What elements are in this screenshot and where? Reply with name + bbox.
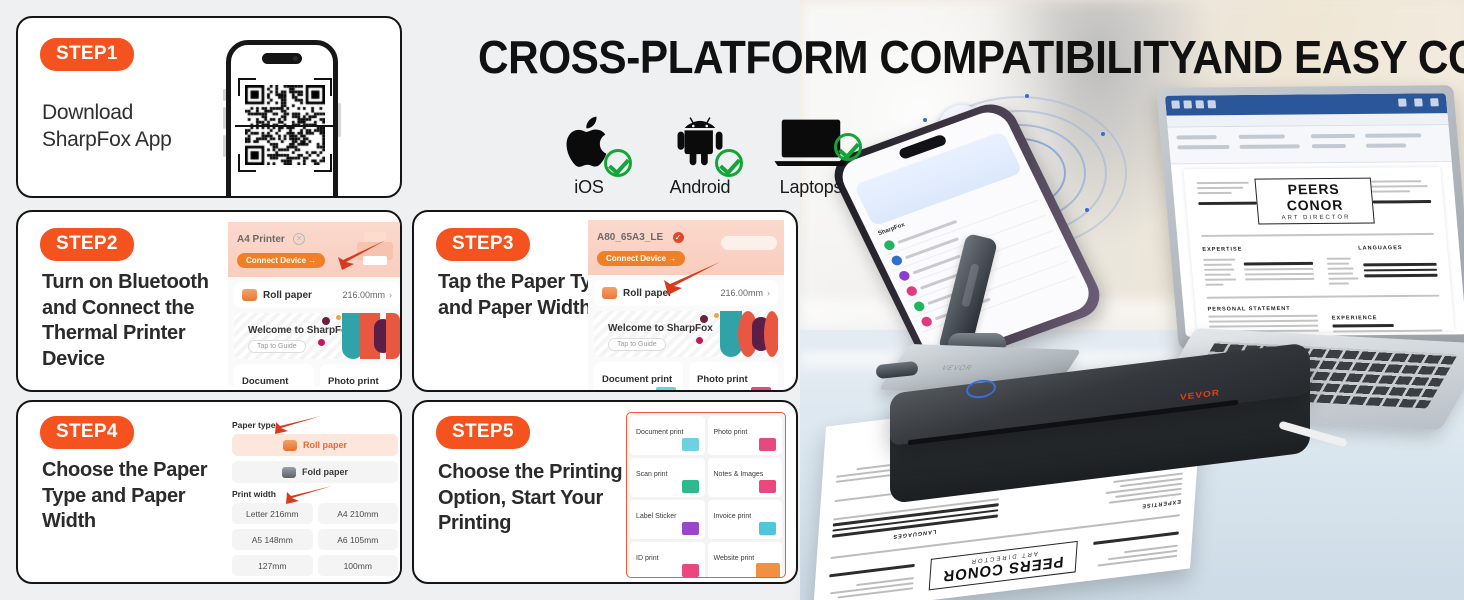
step-card-4: STEP4 Choose the Paper Type and Paper Wi…: [16, 400, 402, 584]
step-description: Download SharpFox App: [42, 100, 217, 154]
step-badge: STEP1: [40, 38, 134, 71]
tap-to-guide-button[interactable]: Tap to Guide: [248, 340, 306, 353]
red-arrow-icon: [650, 258, 722, 298]
paper-row-value: 216.00mm: [720, 288, 763, 298]
phone-stand: VEVOR: [886, 255, 1086, 380]
invoice-print-icon: [759, 522, 776, 535]
paper-type-fold-paper[interactable]: Fold paper: [232, 461, 398, 483]
width-option[interactable]: 100mm: [318, 555, 399, 576]
print-width-grid: Letter 216mm A4 210mm A5 148mm A6 105mm …: [232, 503, 398, 576]
banner-artwork: [694, 311, 778, 357]
thermal-printer: VEVOR: [890, 368, 1310, 500]
roll-paper-icon: [602, 287, 617, 299]
website-print-icon: [756, 563, 780, 578]
print-options-panel: Document print Photo print Scan print No…: [626, 412, 786, 578]
step-badge: STEP3: [436, 228, 530, 261]
tile-photo-print[interactable]: Photo print: [320, 364, 400, 386]
roll-paper-icon: [283, 440, 297, 451]
device-name: A80_65A3_LE: [597, 232, 663, 243]
platform-label: Android: [651, 177, 749, 198]
dynamic-island: [262, 53, 302, 64]
print-option[interactable]: Document print: [630, 416, 705, 455]
connect-device-button[interactable]: Connect Device →: [237, 253, 325, 268]
print-option[interactable]: ID print: [630, 542, 705, 578]
step-card-2: STEP2 Turn on Bluetooth and Connect the …: [16, 210, 402, 392]
device-pill: [721, 236, 777, 250]
app-screenshot-step3: A80_65A3_LE ✓ Connect Device → Roll pape…: [588, 220, 784, 392]
check-icon: [604, 149, 632, 177]
step-badge: STEP2: [40, 228, 134, 261]
paper-row-label: Roll paper: [263, 290, 342, 301]
print-tiles: Document print Photo print: [594, 362, 778, 392]
id-print-icon: [682, 564, 699, 577]
check-icon: [715, 149, 743, 177]
chevron-right-icon: ›: [767, 288, 770, 298]
check-icon: [834, 133, 862, 161]
step-badge: STEP5: [436, 416, 530, 449]
roll-paper-icon: [242, 289, 257, 301]
platform-compatibility-row: iOS Android Laptops: [540, 98, 860, 198]
width-option[interactable]: A6 105mm: [318, 529, 399, 550]
print-option[interactable]: Notes & Images: [708, 458, 783, 497]
tile-document-print[interactable]: Document print: [594, 362, 683, 392]
doc-section-personal: PERSONAL STATEMENT: [1207, 306, 1317, 313]
step-badge: STEP4: [40, 416, 134, 449]
print-option[interactable]: Website print: [708, 542, 783, 578]
red-arrow-icon: [265, 414, 323, 438]
chevron-right-icon: ›: [389, 290, 392, 300]
step-description: Turn on Bluetooth and Connect the Therma…: [42, 270, 232, 372]
red-arrow-icon: [276, 484, 334, 508]
banner-artwork: [316, 313, 400, 359]
red-arrow-icon: [326, 238, 388, 272]
doc-section-languages: LANGUAGES: [1326, 245, 1436, 252]
print-option[interactable]: Label Sticker: [630, 500, 705, 539]
step-card-5: STEP5 Choose the Printing Option, Start …: [412, 400, 798, 584]
label-sticker-icon: [682, 522, 699, 535]
width-option[interactable]: 127mm: [232, 555, 313, 576]
platform-label: iOS: [540, 177, 638, 198]
platform-android: Android: [651, 111, 749, 198]
photo-print-icon: [759, 438, 776, 451]
platform-ios: iOS: [540, 111, 638, 198]
android-icon: [651, 111, 749, 173]
paper-row-value: 216.00mm: [342, 290, 385, 300]
width-option[interactable]: A5 148mm: [232, 529, 313, 550]
promo-banner: ᚨ SharpFox VEVOR: [0, 0, 1464, 600]
printed-section-expertise: EXPERTISE: [1015, 498, 1181, 524]
platform-label: Laptops: [762, 177, 860, 198]
doc-role: ART DIRECTOR: [1269, 215, 1364, 222]
scan-print-icon: [682, 480, 699, 493]
doc-name: PEERS CONOR: [1266, 181, 1363, 214]
page-title: CROSS-PLATFORM COMPATIBILITYAND EASY CON…: [478, 34, 1361, 80]
print-option[interactable]: Invoice print: [708, 500, 783, 539]
qr-code-icon: [245, 85, 325, 165]
device-name: A4 Printer: [237, 234, 285, 245]
platform-laptops: Laptops: [762, 111, 860, 198]
print-options-grid: Document print Photo print Scan print No…: [630, 416, 782, 578]
print-option[interactable]: Scan print: [630, 458, 705, 497]
step-card-1: STEP1 Download SharpFox App: [16, 16, 402, 198]
step-description: Choose the Paper Type and Paper Width: [42, 458, 222, 535]
tile-document-print[interactable]: Document print: [234, 364, 314, 386]
apple-icon: [540, 111, 638, 173]
print-tiles: Document print Photo print: [234, 364, 400, 386]
laptop-document: PEERS CONOR ART DIRECTOR: [1183, 167, 1454, 333]
document-print-icon: [682, 438, 699, 451]
scan-line: [235, 125, 335, 127]
paper-row[interactable]: Roll paper 216.00mm ›: [234, 282, 400, 308]
step-card-3: STEP3 Tap the Paper Type and Paper Width…: [412, 210, 798, 392]
laptop-icon: [762, 111, 860, 173]
print-option[interactable]: Photo print: [708, 416, 783, 455]
tile-photo-print[interactable]: Photo print: [689, 362, 778, 392]
fold-paper-icon: [282, 467, 296, 478]
close-circle-icon[interactable]: ✕: [293, 233, 305, 245]
notes-images-icon: [759, 480, 776, 493]
doc-section-experience: EXPERIENCE: [1332, 315, 1442, 322]
check-circle-icon: ✓: [673, 232, 684, 243]
laptop: PEERS CONOR ART DIRECTOR: [1168, 86, 1464, 386]
step-description: Choose the Printing Option, Start Your P…: [438, 460, 648, 537]
phone-mockup-qr: [226, 40, 338, 198]
doc-section-expertise: EXPERTISE: [1202, 246, 1312, 253]
welcome-banner[interactable]: Welcome to SharpFox Tap to Guide: [234, 313, 400, 359]
tap-to-guide-button[interactable]: Tap to Guide: [608, 338, 666, 351]
welcome-banner[interactable]: Welcome to SharpFox Tap to Guide: [594, 311, 778, 357]
